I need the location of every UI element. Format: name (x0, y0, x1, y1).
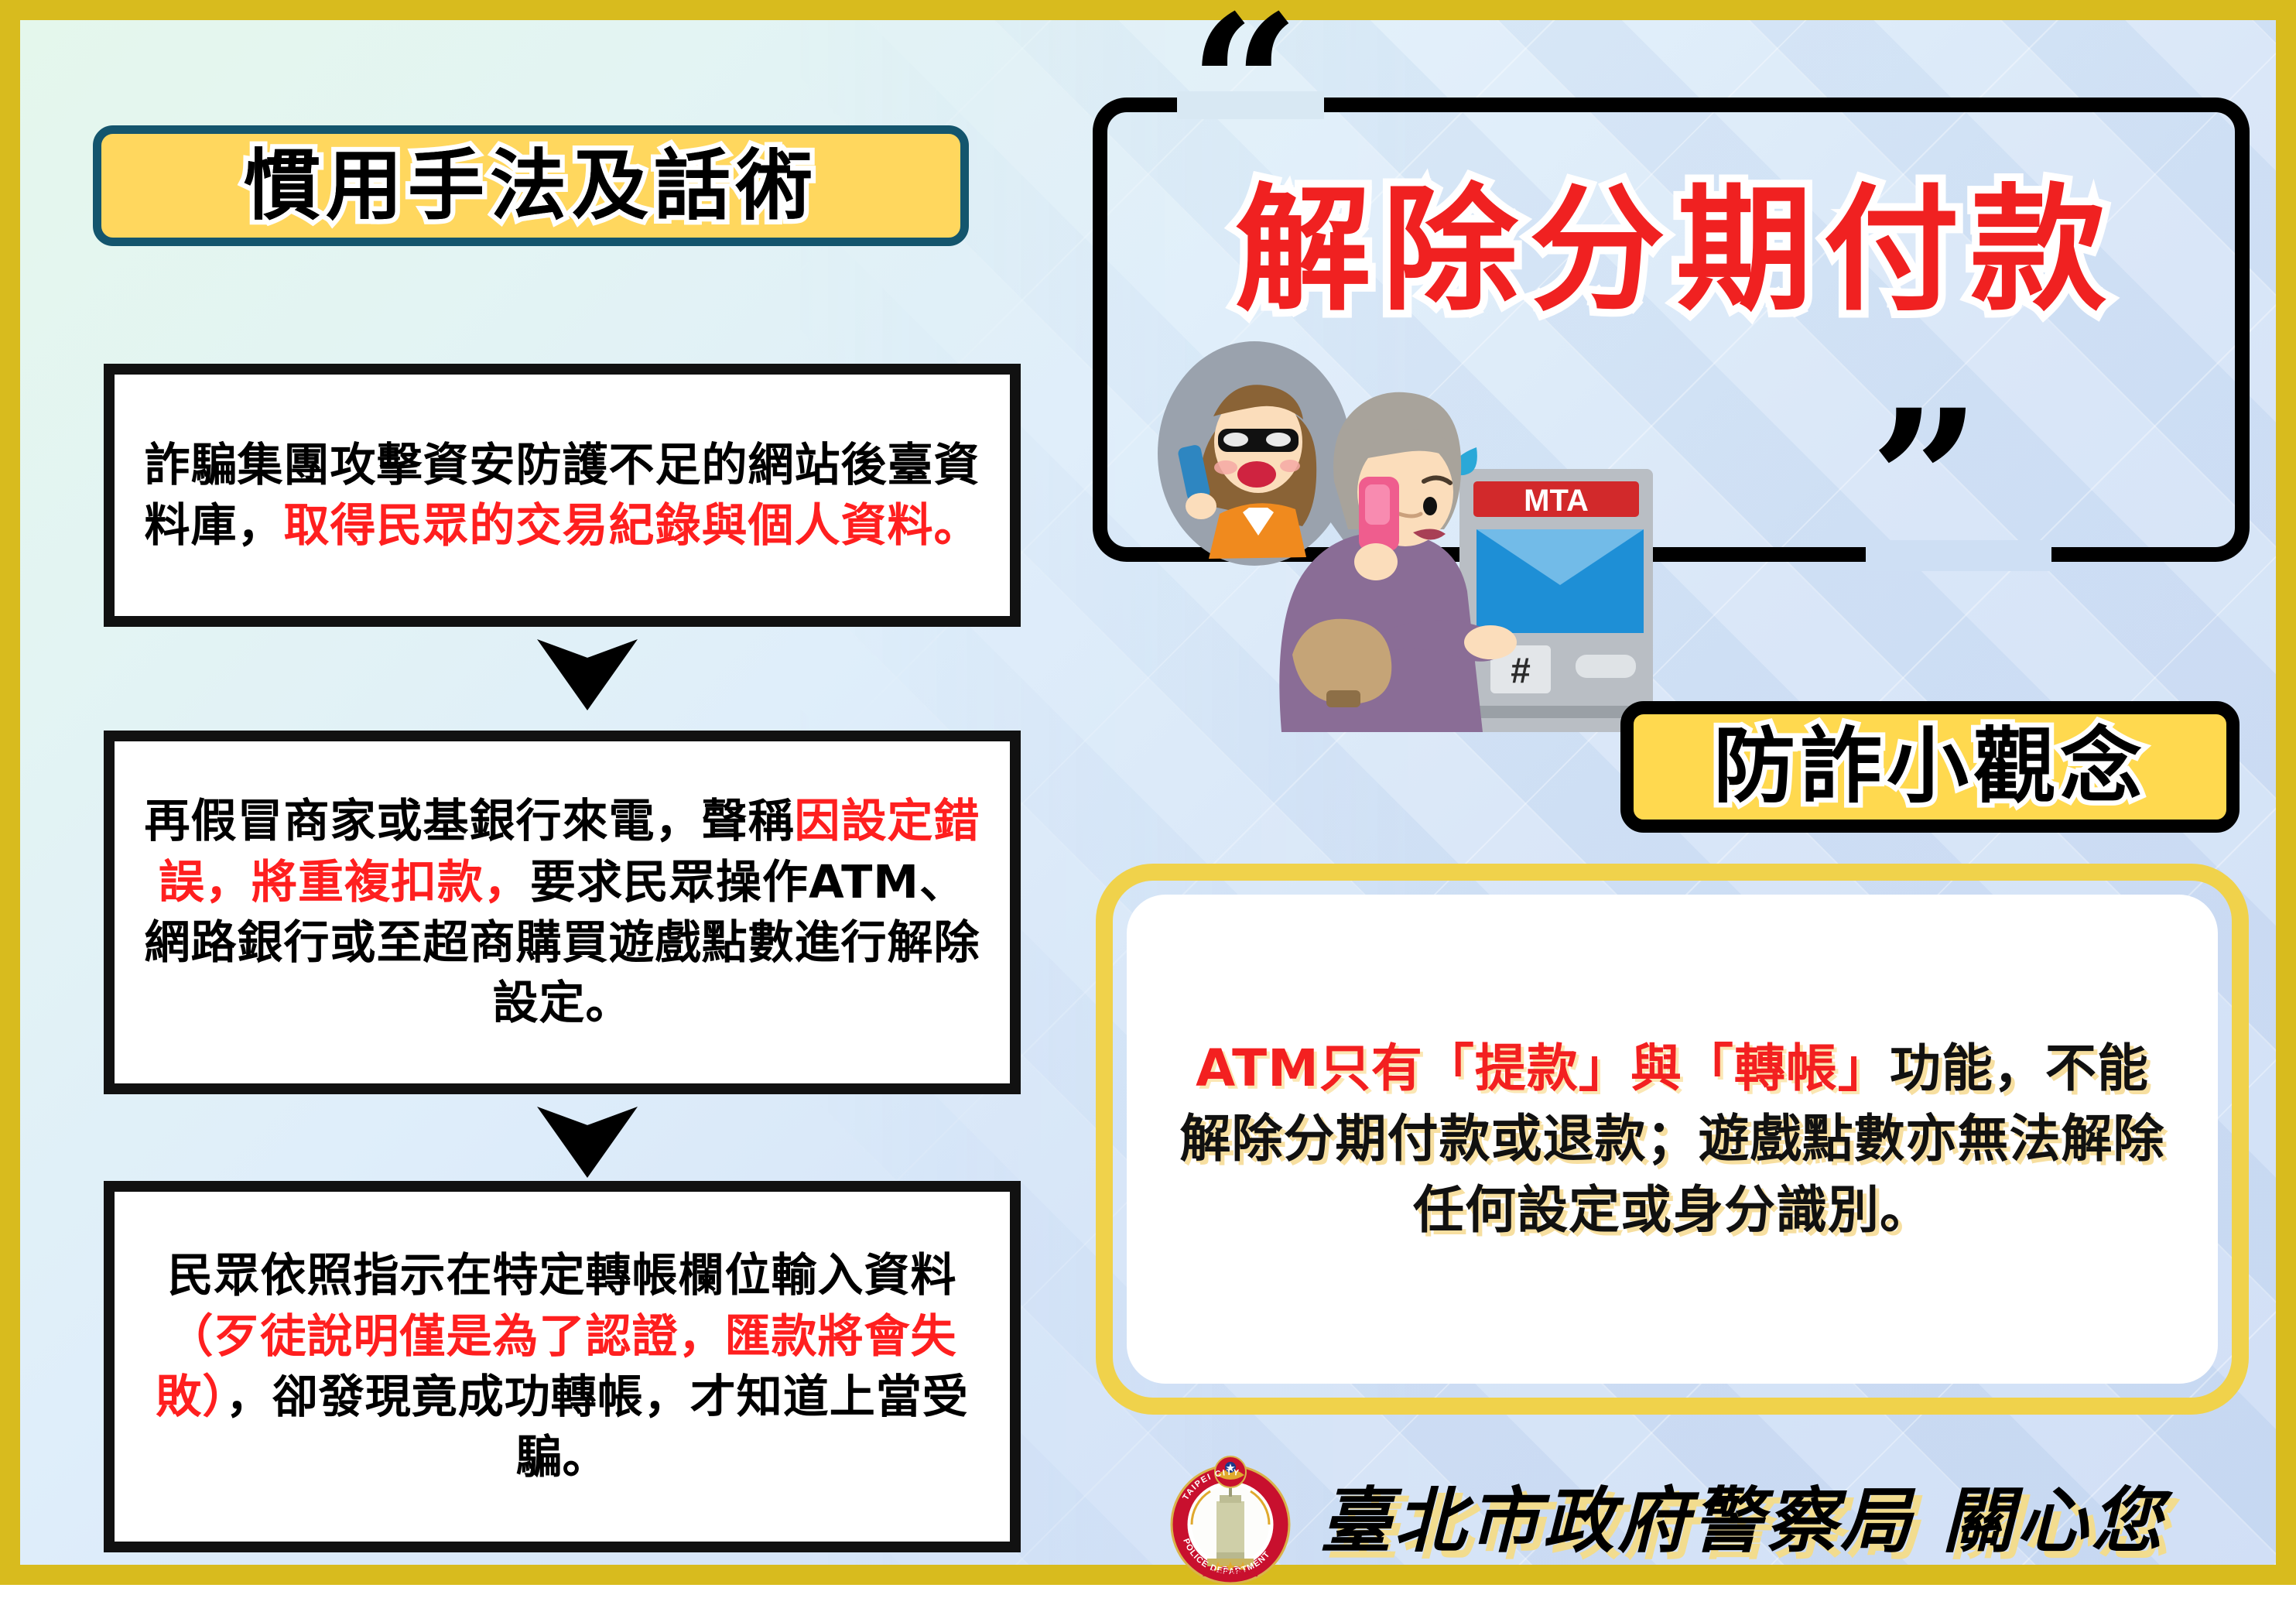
left-column: 慣用手法及話術 詐騙集團攻擊資安防護不足的網站後臺資料庫，取得民眾的交易紀錄與個… (67, 98, 1065, 1560)
scam-illustration: MTA # (1127, 330, 1684, 732)
flow-step-3-part-2: ，卻發現竟成功轉帳，才知道上當受騙。 (226, 1370, 969, 1484)
headline-label: 解除分期付款 (1235, 171, 2117, 330)
atm-label: MTA (1524, 484, 1589, 518)
footer-label: 臺北市政府警察局 關心您 (1320, 1486, 2165, 1557)
down-triangle-arrow-icon-2 (537, 1107, 638, 1178)
svg-text:#: # (1511, 650, 1531, 690)
flow-step-2-part-0: 再假冒商家或基銀行來電，聲稱 (144, 794, 794, 847)
flow-step-3-text: 民眾依照指示在特定轉帳欄位輸入資料（歹徒說明僅是為了認證，匯款將會失敗），卻發現… (141, 1245, 984, 1488)
tip-card: ATM只有「提款」與「轉帳」功能，不能解除分期付款或退款；遊戲點數亦無法解除任何… (1127, 895, 2218, 1384)
down-triangle-arrow-icon (537, 639, 638, 710)
tip-badge: 防詐小觀念 (1620, 701, 2240, 833)
flow-step-3: 民眾依照指示在特定轉帳欄位輸入資料（歹徒說明僅是為了認證，匯款將會失敗），卻發現… (104, 1181, 1021, 1552)
scam-illustration-svg: MTA # (1127, 330, 1684, 732)
right-column: “ ” 解除分期付款 MTA # (1080, 20, 2295, 1605)
taipei-city-police-badge-icon: TAIPEI CITY POLICE DEPARTMENT 臺北市政府警察局 (1162, 1453, 1299, 1590)
section-title-label: 慣用手法及話術 (244, 148, 818, 224)
section-title-banner: 慣用手法及話術 (93, 125, 969, 246)
flow-step-2: 再假冒商家或基銀行來電，聲稱因設定錯誤，將重複扣款，要求民眾操作ATM、網路銀行… (104, 731, 1021, 1094)
close-quote-icon: ” (1870, 384, 1981, 577)
flow-step-3-part-0: 民眾依照指示在特定轉帳欄位輸入資料 (167, 1248, 956, 1302)
flow-step-1-text: 詐騙集團攻擊資安防護不足的網站後臺資料庫，取得民眾的交易紀錄與個人資料。 (141, 435, 984, 556)
badge-inner-label: 臺北市政府警察局 (1203, 1569, 1258, 1578)
footer: TAIPEI CITY POLICE DEPARTMENT 臺北市政府警察局 臺… (1162, 1448, 2261, 1595)
victim-hand (1464, 625, 1517, 659)
atm-card-slot (1576, 655, 1636, 678)
tip-card-text: ATM只有「提款」與「轉帳」功能，不能解除分期付款或退款；遊戲點數亦無法解除任何… (1170, 1033, 2175, 1244)
headline: 解除分期付款 (1104, 183, 2249, 319)
tip-card-part-0: ATM只有「提款」與「轉帳」 (1196, 1039, 1890, 1098)
open-quote-icon: “ (1189, 0, 1300, 183)
flow-step-1: 詐騙集團攻擊資安防護不足的網站後臺資料庫，取得民眾的交易紀錄與個人資料。 (104, 364, 1021, 627)
flow-step-2-text: 再假冒商家或基銀行來電，聲稱因設定錯誤，將重複扣款，要求民眾操作ATM、網路銀行… (141, 791, 984, 1034)
flow-step-1-part-1: 取得民眾的交易紀錄與個人資料。 (284, 498, 980, 552)
poster-root: 慣用手法及話術 詐騙集團攻擊資安防護不足的網站後臺資料庫，取得民眾的交易紀錄與個… (0, 0, 2296, 1585)
atm-machine-icon: MTA # (1459, 469, 1653, 732)
tip-badge-label: 防詐小觀念 (1713, 726, 2147, 808)
